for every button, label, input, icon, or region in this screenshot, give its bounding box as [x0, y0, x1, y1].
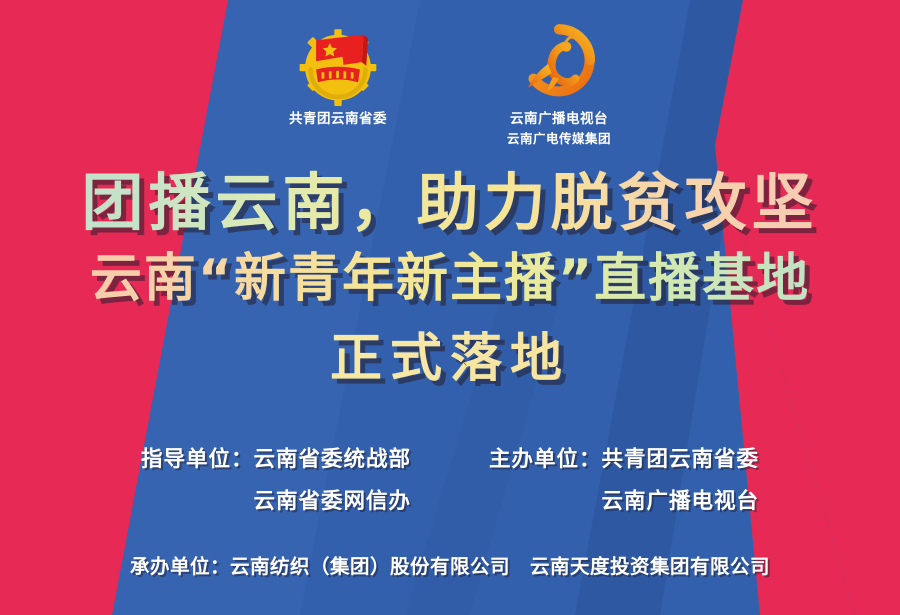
headline-line-3: 正式落地 — [0, 330, 900, 388]
credit-host-line: 承办单位：云南纺织（集团）股份有限公司 云南天度投资集团有限公司 — [0, 550, 900, 579]
credit-organizer-line-1: 主办单位：共青团云南省委 — [489, 442, 759, 473]
logo-caption-cyl: 共青团云南省委 — [289, 110, 387, 127]
logo-row: 共青团云南省委 — [0, 22, 900, 147]
credit-guidance-line-2: 云南省委网信办 — [141, 484, 411, 515]
poster-banner: 共青团云南省委 — [0, 0, 900, 615]
credits-columns: 指导单位：云南省委统战部 云南省委网信办 主办单位：共青团云南省委 云南广播电视… — [0, 442, 900, 515]
logo-block-cyl: 共青团云南省委 — [289, 22, 387, 147]
headline-line-2: 云南“新青年新主播”直播基地 — [0, 250, 900, 308]
credits-organizer-column: 主办单位：共青团云南省委 云南广播电视台 — [489, 442, 759, 515]
logo-block-yntv: 云南广播电视台 云南广电传媒集团 — [507, 22, 611, 147]
credit-guidance-line-1: 指导单位：云南省委统战部 — [141, 442, 411, 473]
credits-guidance-column: 指导单位：云南省委统战部 云南省委网信办 — [141, 442, 411, 515]
headline-block: 团播云南，助力脱贫攻坚 云南“新青年新主播”直播基地 正式落地 — [0, 168, 900, 388]
credits-host-row: 承办单位：云南纺织（集团）股份有限公司 云南天度投资集团有限公司 — [0, 550, 900, 579]
logo-caption-yntv: 云南广播电视台 — [510, 110, 608, 127]
yunnan-broadcast-tv-peacock-icon — [513, 22, 605, 106]
headline-line-1: 团播云南，助力脱贫攻坚 — [0, 168, 900, 238]
credit-organizer-line-2: 云南广播电视台 — [489, 484, 759, 515]
communist-youth-league-emblem-icon — [292, 22, 384, 106]
logo-subcaption-yntv: 云南广电传媒集团 — [507, 131, 611, 147]
